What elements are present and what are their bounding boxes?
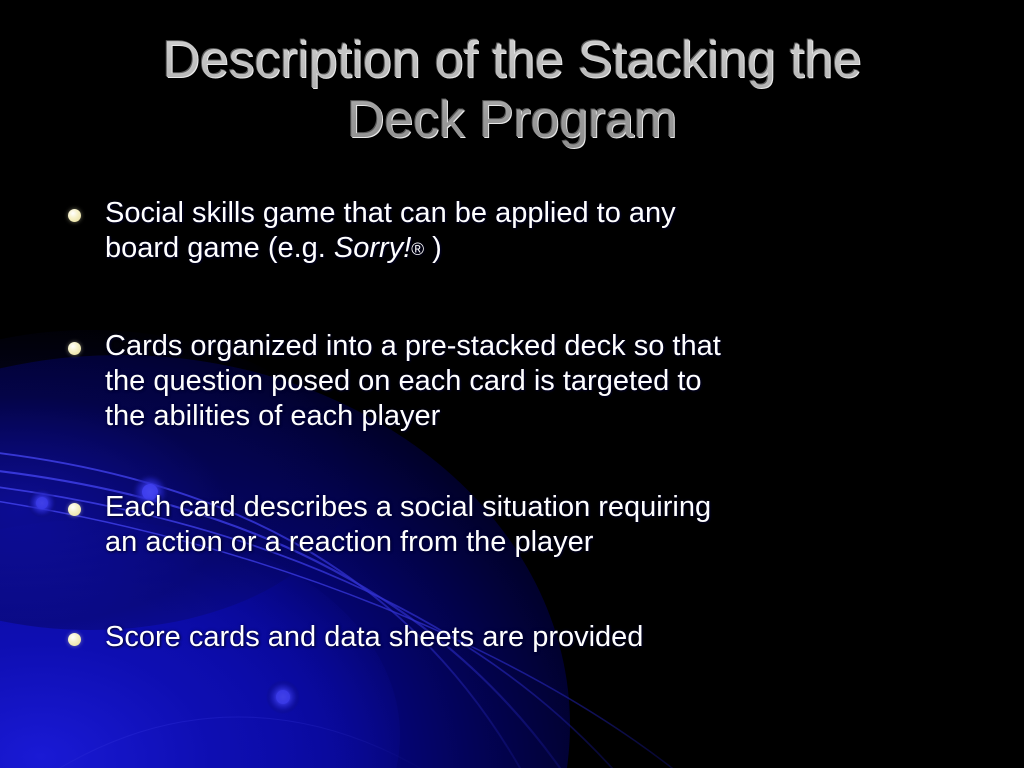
registered-trademark-icon: ®	[411, 239, 424, 259]
bullet-1-line-2-prefix: board game (e.g.	[105, 232, 334, 264]
brand-name-sorry: Sorry!	[334, 232, 411, 264]
bullet-item-1: Social skills game that can be applied t…	[62, 196, 982, 267]
bullet-item-2: Cards organized into a pre-stacked deck …	[62, 329, 982, 434]
bullet-marker-icon	[68, 503, 81, 516]
bullet-marker-icon	[68, 342, 81, 355]
bullet-3-line-1: Each card describes a social situation r…	[105, 490, 982, 525]
bullet-4-line-1: Score cards and data sheets are provided	[105, 620, 982, 655]
slide-body: Social skills game that can be applied t…	[62, 196, 982, 655]
presentation-slide: Description of the Stacking the Deck Pro…	[0, 0, 1024, 768]
bullet-marker-icon	[68, 209, 81, 222]
bullet-item-3: Each card describes a social situation r…	[62, 490, 982, 560]
bullet-1-line-2: board game (e.g. Sorry!® )	[105, 231, 982, 267]
bullet-1-line-1: Social skills game that can be applied t…	[105, 196, 982, 231]
bullet-marker-icon	[68, 633, 81, 646]
slide-title-line-2: Deck Program	[60, 90, 964, 150]
bullet-2-line-1: Cards organized into a pre-stacked deck …	[105, 329, 982, 364]
slide-title-line-1: Description of the Stacking the	[60, 30, 964, 90]
bullet-2-line-3: the abilities of each player	[105, 399, 982, 434]
bullet-3-line-2: an action or a reaction from the player	[105, 525, 982, 560]
bullet-1-line-2-suffix: )	[424, 232, 442, 264]
bullet-2-line-2: the question posed on each card is targe…	[105, 364, 982, 399]
slide-title: Description of the Stacking the Deck Pro…	[60, 30, 964, 150]
bullet-item-4: Score cards and data sheets are provided	[62, 620, 982, 655]
